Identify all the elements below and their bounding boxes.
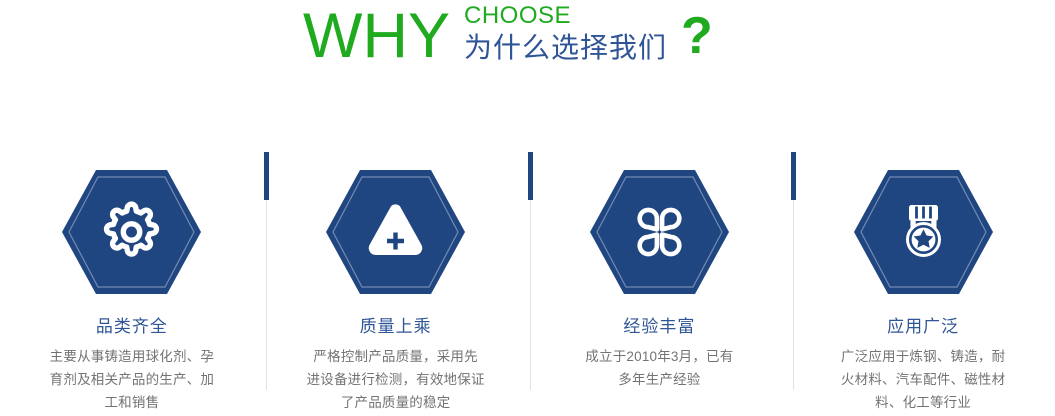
page-heading: WHY CHOOSE 为什么选择我们 ? xyxy=(0,0,1055,92)
column-divider-blue xyxy=(791,152,796,200)
desc-line: 工和销售 xyxy=(24,391,239,414)
feature-title-2: 质量上乘 xyxy=(360,316,432,338)
heading-choose: CHOOSE xyxy=(464,2,667,29)
feature-column-2[interactable]: 质量上乘 严格控制产品质量，采用先 进设备进行检测，有效地保证 了产品质量的稳定 xyxy=(264,140,528,416)
desc-line: 进设备进行检测，有效地保证 xyxy=(288,368,503,391)
hexagon-badge-1 xyxy=(60,168,203,296)
heading-inner: WHY CHOOSE 为什么选择我们 ? xyxy=(303,0,713,72)
heading-chinese: 为什么选择我们 xyxy=(464,31,667,65)
feature-columns: 品类齐全 主要从事铸造用球化剂、孕 育剂及相关产品的生产、加 工和销售 xyxy=(0,140,1055,416)
feature-title-1: 品类齐全 xyxy=(96,316,168,338)
desc-line: 成立于2010年3月，已有 xyxy=(552,345,767,368)
desc-line: 火材料、汽车配件、磁性材 xyxy=(816,368,1031,391)
hexagon-badge-4 xyxy=(852,168,995,296)
feature-column-1[interactable]: 品类齐全 主要从事铸造用球化剂、孕 育剂及相关产品的生产、加 工和销售 xyxy=(0,140,264,416)
feature-column-4[interactable]: 应用广泛 广泛应用于炼钢、铸造，耐 火材料、汽车配件、磁性材 料、化工等行业 xyxy=(791,140,1055,416)
medal-icon xyxy=(906,205,941,257)
hexagon-badge-3 xyxy=(588,168,731,296)
column-divider-grey xyxy=(530,200,531,390)
heading-text-stack: CHOOSE 为什么选择我们 xyxy=(464,0,667,65)
column-divider-grey xyxy=(266,200,267,390)
feature-title-3: 经验丰富 xyxy=(623,316,695,338)
desc-line: 多年生产经验 xyxy=(552,368,767,391)
desc-line: 育剂及相关产品的生产、加 xyxy=(24,368,239,391)
heading-why: WHY xyxy=(303,0,450,72)
hexagon-badge-2 xyxy=(324,168,467,296)
desc-line: 主要从事铸造用球化剂、孕 xyxy=(24,345,239,368)
feature-desc-1: 主要从事铸造用球化剂、孕 育剂及相关产品的生产、加 工和销售 xyxy=(24,345,239,414)
desc-line: 严格控制产品质量，采用先 xyxy=(288,345,503,368)
desc-line: 了产品质量的稳定 xyxy=(288,391,503,414)
feature-column-3[interactable]: 经验丰富 成立于2010年3月，已有 多年生产经验 xyxy=(528,140,792,416)
desc-line: 料、化工等行业 xyxy=(816,391,1031,414)
heading-question-mark: ? xyxy=(681,8,713,72)
desc-line: 广泛应用于炼钢、铸造，耐 xyxy=(816,345,1031,368)
column-divider-blue xyxy=(264,152,269,200)
column-divider-grey xyxy=(793,200,794,390)
feature-title-4: 应用广泛 xyxy=(887,316,959,338)
feature-desc-4: 广泛应用于炼钢、铸造，耐 火材料、汽车配件、磁性材 料、化工等行业 xyxy=(816,345,1031,414)
feature-desc-2: 严格控制产品质量，采用先 进设备进行检测，有效地保证 了产品质量的稳定 xyxy=(288,345,503,414)
feature-desc-3: 成立于2010年3月，已有 多年生产经验 xyxy=(552,345,767,391)
column-divider-blue xyxy=(528,152,533,200)
